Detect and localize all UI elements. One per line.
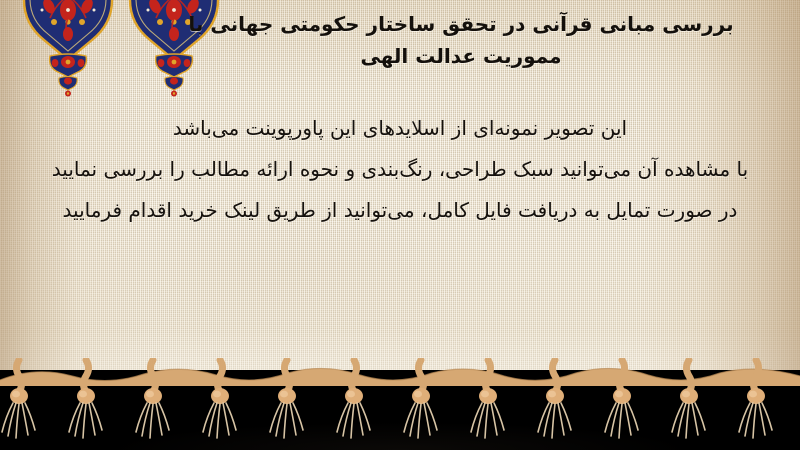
tassel-icon xyxy=(723,358,789,450)
medallion-pendant-icon xyxy=(42,52,94,98)
body-line-1: این تصویر نمونه‌ای از اسلایدهای این پاور… xyxy=(20,108,780,149)
tassel-icon xyxy=(522,358,588,450)
body-line-3: در صورت تمایل به دریافت فایل کامل، می‌تو… xyxy=(20,190,780,231)
tassel-icon xyxy=(254,358,320,450)
title-line-2: مموریت عدالت الهی xyxy=(148,40,774,72)
tassel-icon xyxy=(388,358,454,450)
slide-canvas: بررسی مبانی قرآنی در تحقق ساختار حکومتی … xyxy=(0,0,800,450)
tassel-icon xyxy=(53,358,119,450)
tassel-icon xyxy=(321,358,387,450)
tassel-icon xyxy=(656,358,722,450)
tassel-icon xyxy=(120,358,186,450)
title-line-1: بررسی مبانی قرآنی در تحقق ساختار حکومتی … xyxy=(148,8,774,40)
tassel-icon xyxy=(187,358,253,450)
tassel-icon xyxy=(455,358,521,450)
slide-body: این تصویر نمونه‌ای از اسلایدهای این پاور… xyxy=(20,108,780,231)
tassel-fringe xyxy=(0,358,800,450)
slide-title: بررسی مبانی قرآنی در تحقق ساختار حکومتی … xyxy=(148,8,774,72)
tassel-icon xyxy=(589,358,655,450)
persian-medallion-ornament-left xyxy=(16,0,120,92)
body-line-2: با مشاهده آن می‌توانید سبک طراحی، رنگ‌بن… xyxy=(20,149,780,190)
tassel-icon xyxy=(0,358,52,450)
